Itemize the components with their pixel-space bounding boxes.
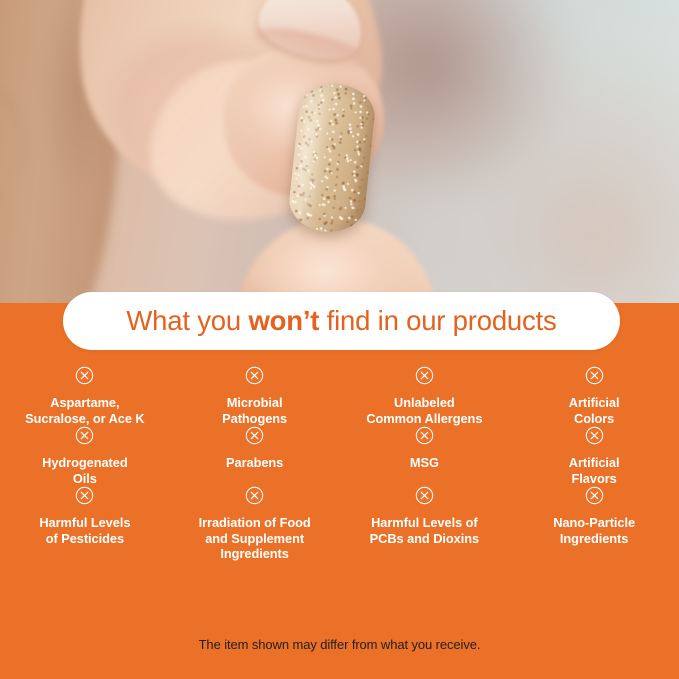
- exclusion-label: Irradiation of Food and Supplement Ingre…: [199, 515, 311, 562]
- exclusion-item: Harmful Levels of PCBs and Dioxins: [340, 486, 510, 562]
- exclusion-item: Artificial Flavors: [509, 426, 679, 486]
- exclusion-item: Harmful Levels of Pesticides: [0, 486, 170, 562]
- exclusion-item: Unlabeled Common Allergens: [340, 366, 510, 426]
- exclusion-item: Microbial Pathogens: [170, 366, 340, 426]
- circle-x-icon: [75, 486, 94, 505]
- circle-x-icon: [75, 366, 94, 385]
- headline-text-before: What you: [126, 305, 248, 336]
- exclusion-label: MSG: [410, 455, 439, 471]
- exclusion-label: Nano-Particle Ingredients: [553, 515, 635, 546]
- circle-x-icon: [415, 366, 434, 385]
- disclaimer-text: The item shown may differ from what you …: [0, 637, 679, 652]
- exclusion-label: Unlabeled Common Allergens: [366, 395, 482, 426]
- headline-emphasis: won’t: [248, 305, 319, 336]
- circle-x-icon: [245, 486, 264, 505]
- exclusion-label: Artificial Flavors: [569, 455, 620, 486]
- exclusion-label: Parabens: [226, 455, 283, 471]
- circle-x-icon: [245, 366, 264, 385]
- circle-x-icon: [245, 426, 264, 445]
- circle-x-icon: [585, 366, 604, 385]
- infographic-canvas: What you won’t find in our products Aspa…: [0, 0, 679, 679]
- supplement-tablet: [286, 80, 377, 235]
- exclusion-label: Aspartame, Sucralose, or Ace K: [25, 395, 144, 426]
- product-photo: [0, 0, 679, 303]
- exclusion-item: Hydrogenated Oils: [0, 426, 170, 486]
- circle-x-icon: [585, 486, 604, 505]
- page-title: What you won’t find in our products: [126, 305, 556, 337]
- arm-vein-detail: [0, 86, 28, 186]
- exclusion-item: Irradiation of Food and Supplement Ingre…: [170, 486, 340, 562]
- exclusion-label: Harmful Levels of Pesticides: [39, 515, 130, 546]
- excluded-ingredients-grid: Aspartame, Sucralose, or Ace K Microbial…: [0, 366, 679, 562]
- exclusion-label: Artificial Colors: [569, 395, 620, 426]
- exclusion-label: Harmful Levels of PCBs and Dioxins: [370, 515, 479, 546]
- exclusion-label: Microbial Pathogens: [222, 395, 287, 426]
- circle-x-icon: [415, 486, 434, 505]
- headline-text-after: find in our products: [319, 305, 556, 336]
- exclusion-item: Nano-Particle Ingredients: [509, 486, 679, 562]
- headline-pill: What you won’t find in our products: [63, 292, 620, 350]
- exclusion-item: Artificial Colors: [509, 366, 679, 426]
- exclusion-label: Hydrogenated Oils: [42, 455, 127, 486]
- circle-x-icon: [585, 426, 604, 445]
- exclusion-item: MSG: [340, 426, 510, 486]
- circle-x-icon: [75, 426, 94, 445]
- circle-x-icon: [415, 426, 434, 445]
- exclusion-item: Parabens: [170, 426, 340, 486]
- exclusion-item: Aspartame, Sucralose, or Ace K: [0, 366, 170, 426]
